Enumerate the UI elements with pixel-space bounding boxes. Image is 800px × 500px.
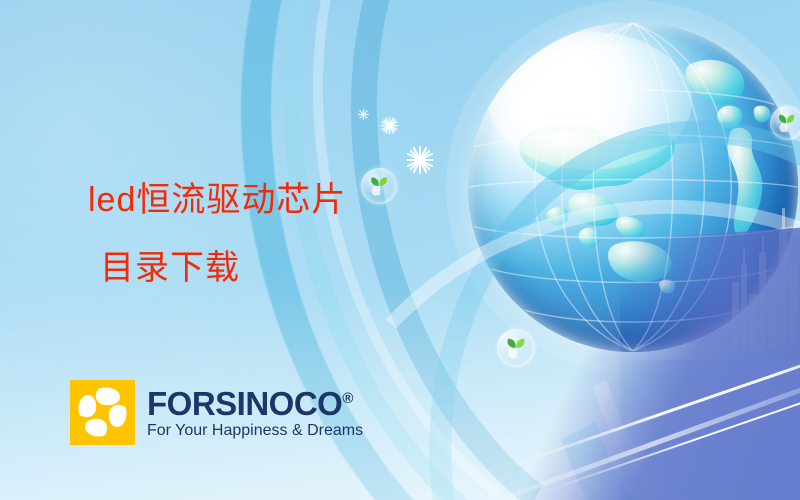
headline-line-1: led恒流驱动芯片	[88, 181, 346, 219]
headline-line-2: 目录下载	[88, 234, 346, 302]
banner-image: led恒流驱动芯片 目录下载 FORSINOCO® For Your Happi…	[0, 0, 800, 500]
green-sprout-icon	[368, 174, 391, 198]
bubble-icon	[497, 329, 535, 367]
bubble-icon	[770, 106, 800, 140]
four-petal-pinwheel-icon	[70, 380, 135, 445]
bubble-icon	[361, 168, 397, 204]
company-logo: FORSINOCO® For Your Happiness & Dreams	[70, 380, 363, 445]
green-sprout-icon	[776, 111, 798, 135]
brand-name: FORSINOCO®	[147, 382, 363, 421]
starburst-icon	[358, 109, 369, 120]
starburst-icon	[381, 117, 398, 134]
brand-name-text: FORSINOCO	[147, 385, 342, 422]
pinwheel-petals	[70, 380, 135, 445]
headline-text: led恒流驱动芯片 目录下载	[88, 166, 346, 302]
logo-wordmark: FORSINOCO® For Your Happiness & Dreams	[147, 382, 363, 440]
green-sprout-icon	[504, 335, 529, 361]
brand-tagline: For Your Happiness & Dreams	[147, 422, 363, 440]
starburst-icon	[406, 146, 434, 174]
registered-trademark-icon: ®	[342, 390, 353, 407]
